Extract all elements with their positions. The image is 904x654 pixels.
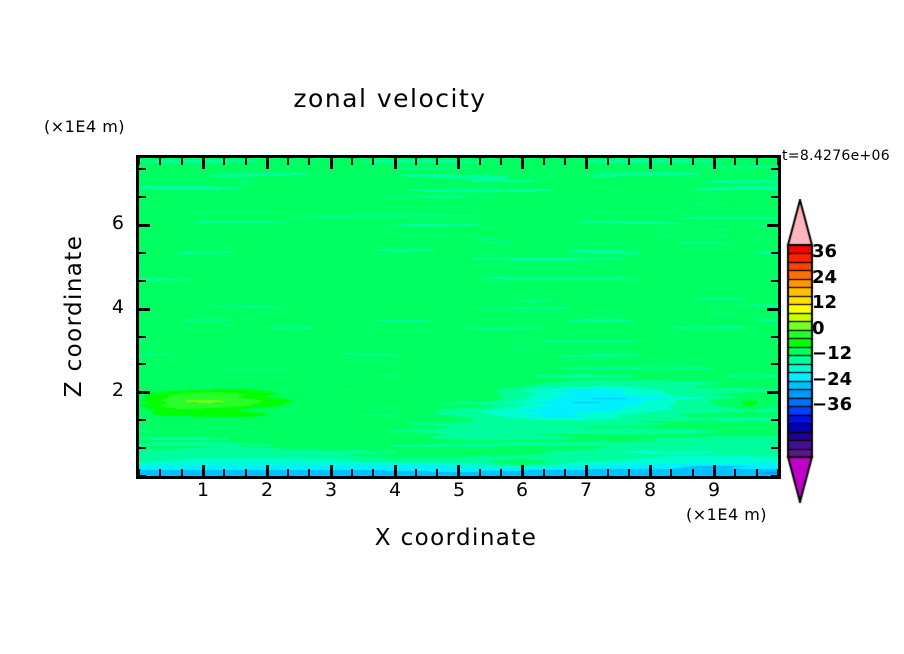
x-tick-minor	[734, 158, 736, 165]
x-tick-minor	[181, 469, 183, 476]
x-tick-label: 8	[630, 479, 670, 501]
x-tick-minor	[756, 469, 758, 476]
x-tick-major	[713, 158, 716, 169]
x-tick-minor	[479, 469, 481, 476]
x-tick-label: 6	[502, 479, 542, 501]
y-tick-minor	[139, 419, 146, 421]
x-tick-minor	[287, 158, 289, 165]
y-tick-minor	[771, 447, 778, 449]
y-tick-minor	[139, 447, 146, 449]
x-tick-label: 4	[375, 479, 415, 501]
x-tick-minor	[670, 158, 672, 165]
x-tick-minor	[351, 158, 353, 165]
y-tick-major	[767, 391, 778, 394]
x-tick-major	[585, 158, 588, 169]
x-tick-minor	[372, 158, 374, 165]
x-tick-minor	[308, 469, 310, 476]
y-axis-unit-label: (×1E4 m)	[44, 117, 125, 136]
x-tick-label: 5	[439, 479, 479, 501]
y-tick-major	[139, 224, 150, 227]
x-tick-minor	[223, 158, 225, 165]
x-tick-minor	[223, 469, 225, 476]
y-tick-major	[139, 308, 150, 311]
colorbar-tick-label: 24	[812, 267, 837, 288]
x-tick-minor	[181, 158, 183, 165]
y-tick-minor	[771, 419, 778, 421]
x-tick-major	[330, 158, 333, 169]
colorbar-tick-label: −12	[812, 343, 852, 364]
x-tick-minor	[692, 469, 694, 476]
x-tick-major	[713, 465, 716, 476]
y-tick-minor	[771, 363, 778, 365]
x-tick-minor	[287, 469, 289, 476]
x-tick-minor	[543, 469, 545, 476]
x-tick-minor	[564, 158, 566, 165]
x-tick-minor	[500, 158, 502, 165]
page-title: zonal velocity	[0, 84, 780, 113]
y-tick-minor	[771, 196, 778, 198]
x-tick-major	[266, 465, 269, 476]
contour-plot-area	[136, 155, 781, 479]
x-tick-minor	[479, 158, 481, 165]
x-tick-major	[521, 465, 524, 476]
x-tick-label: 7	[566, 479, 606, 501]
x-tick-major	[266, 158, 269, 169]
x-tick-minor	[159, 158, 161, 165]
y-tick-minor	[139, 475, 146, 477]
x-tick-label: 9	[694, 479, 734, 501]
x-tick-minor	[436, 469, 438, 476]
x-tick-minor	[543, 158, 545, 165]
x-tick-minor	[756, 158, 758, 165]
x-tick-minor	[159, 469, 161, 476]
x-axis-unit-label: (×1E4 m)	[686, 505, 767, 524]
y-tick-minor	[139, 363, 146, 365]
y-tick-minor	[139, 168, 146, 170]
x-tick-minor	[308, 158, 310, 165]
x-tick-minor	[692, 158, 694, 165]
x-tick-label: 3	[311, 479, 351, 501]
x-tick-major	[394, 465, 397, 476]
x-tick-major	[457, 465, 460, 476]
colorbar-tick-label: 36	[812, 241, 837, 262]
y-tick-minor	[771, 336, 778, 338]
colorbar-tick-label: 0	[812, 318, 825, 339]
x-tick-minor	[436, 158, 438, 165]
x-tick-minor	[372, 469, 374, 476]
x-tick-minor	[245, 469, 247, 476]
x-tick-major	[394, 158, 397, 169]
colorbar-tick-label: −24	[812, 369, 852, 390]
x-axis-title: X coordinate	[136, 525, 776, 551]
y-tick-minor	[771, 168, 778, 170]
x-tick-minor	[138, 158, 140, 165]
x-tick-major	[521, 158, 524, 169]
x-tick-minor	[628, 469, 630, 476]
y-tick-minor	[771, 280, 778, 282]
y-tick-minor	[771, 475, 778, 477]
x-tick-minor	[415, 469, 417, 476]
y-tick-label: 6	[84, 212, 124, 234]
y-tick-label: 2	[84, 379, 124, 401]
y-tick-minor	[139, 196, 146, 198]
x-tick-major	[649, 158, 652, 169]
x-tick-label: 2	[247, 479, 287, 501]
x-tick-minor	[607, 158, 609, 165]
x-tick-minor	[777, 158, 779, 165]
y-tick-minor	[139, 280, 146, 282]
x-tick-minor	[607, 469, 609, 476]
y-tick-major	[767, 308, 778, 311]
y-tick-major	[139, 391, 150, 394]
y-tick-label: 4	[84, 296, 124, 318]
colorbar-tick-label: −36	[812, 394, 852, 415]
colorbar-tick-label: 12	[812, 292, 837, 313]
x-tick-minor	[564, 469, 566, 476]
x-tick-major	[649, 465, 652, 476]
y-tick-minor	[771, 252, 778, 254]
x-tick-minor	[500, 469, 502, 476]
x-tick-major	[330, 465, 333, 476]
x-tick-minor	[415, 158, 417, 165]
contour-field	[139, 158, 778, 476]
timestamp-annotation: t=8.4276e+06	[782, 148, 890, 164]
x-tick-minor	[351, 469, 353, 476]
x-tick-major	[202, 465, 205, 476]
x-tick-major	[202, 158, 205, 169]
y-tick-minor	[139, 336, 146, 338]
x-tick-label: 1	[183, 479, 223, 501]
figure-canvas: zonal velocity (×1E4 m) (×1E4 m) t=8.427…	[0, 0, 904, 654]
y-tick-minor	[139, 252, 146, 254]
x-tick-minor	[670, 469, 672, 476]
x-tick-major	[457, 158, 460, 169]
x-tick-major	[585, 465, 588, 476]
x-tick-minor	[734, 469, 736, 476]
x-tick-minor	[245, 158, 247, 165]
x-tick-minor	[628, 158, 630, 165]
y-tick-major	[767, 224, 778, 227]
